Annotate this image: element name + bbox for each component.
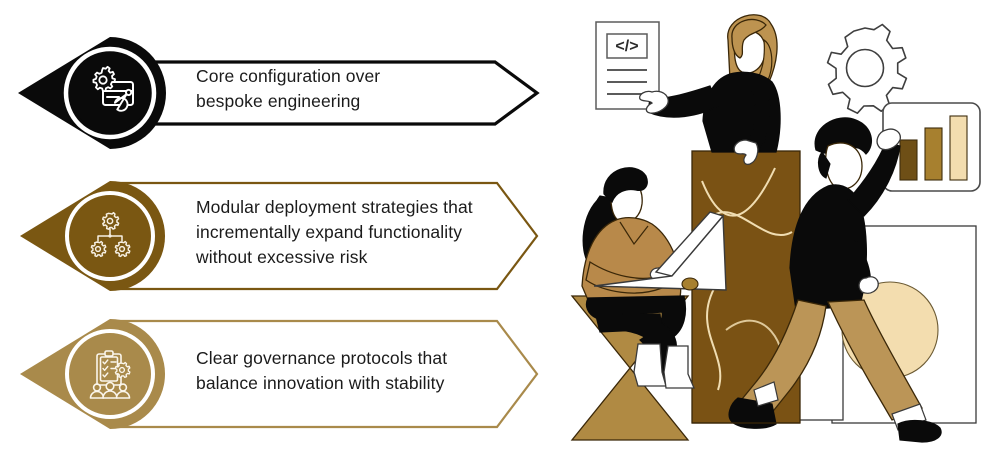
- presenter-woman-on-pedestal: [640, 15, 780, 165]
- banner-3-text: Clear governance protocols that balance …: [196, 346, 447, 396]
- banner-item-2[interactable]: Modular deployment strategies that incre…: [0, 177, 545, 295]
- page-canvas: Core configuration over bespoke engineer…: [0, 0, 1000, 467]
- banner-1-text: Core configuration over bespoke engineer…: [196, 64, 380, 114]
- banner-2-text: Modular deployment strategies that incre…: [196, 195, 473, 270]
- bar-3: [950, 116, 967, 180]
- banner-item-3[interactable]: Clear governance protocols that balance …: [0, 315, 545, 433]
- banner-item-1[interactable]: Core configuration over bespoke engineer…: [0, 28, 545, 158]
- gear-outline-icon: [828, 25, 907, 114]
- bar-1: [900, 140, 917, 180]
- bar-2: [925, 128, 942, 180]
- code-glyph: </>: [615, 38, 638, 55]
- banner-list: Core configuration over bespoke engineer…: [0, 0, 560, 467]
- team-collaboration-illustration: </>: [560, 0, 1000, 467]
